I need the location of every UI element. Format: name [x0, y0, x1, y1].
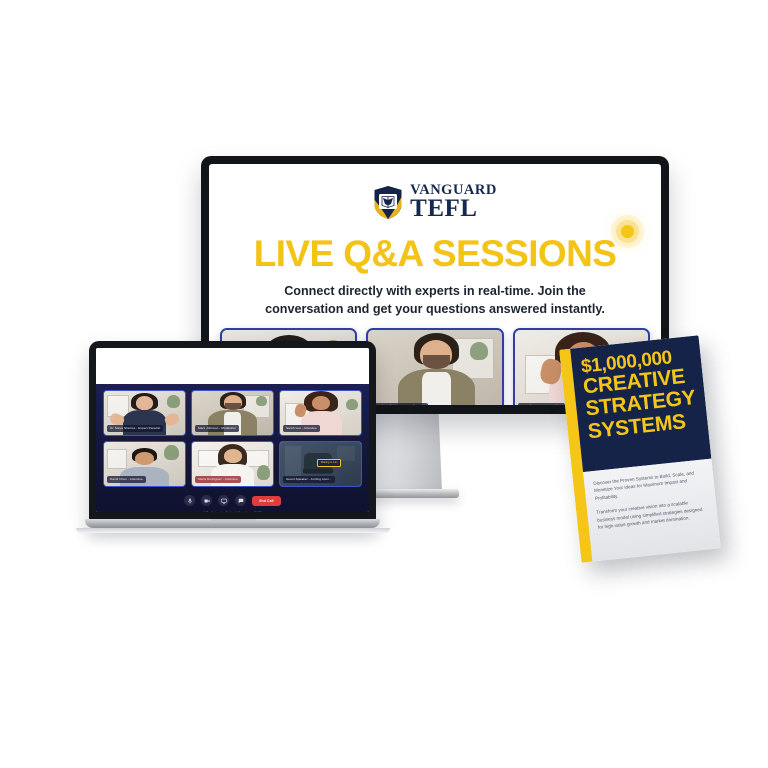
book-paragraph: Discover the Proven Systems to Build, Sc… — [593, 468, 706, 502]
video-call-app: Dr. Maya Sharma - Expert Panelist — [96, 384, 369, 512]
laptop-video-grid: Dr. Maya Sharma - Expert Panelist — [103, 390, 362, 487]
book-cover-bottom: Discover the Proven Systems to Build, Sc… — [583, 459, 721, 562]
participant-name-label: David Chen - Attendee — [107, 476, 146, 483]
book-paragraph: Transform your creative vision into a sc… — [596, 498, 709, 532]
book-cover: $1,000,000 CREATIVE STRATEGY SYSTEMS Dis… — [559, 335, 721, 562]
product-mockup-stage: VANGUARD TEFL LIVE Q&A SESSIONS Connect … — [0, 0, 768, 768]
video-tile[interactable]: Maria Rodriguez - Attendee — [191, 441, 274, 487]
book-cover-top: $1,000,000 CREATIVE STRATEGY SYSTEMS — [570, 335, 711, 472]
laptop-screen: Dr. Maya Sharma - Expert Panelist — [96, 348, 369, 512]
participant-name-label: Dr. Maya Sharma - Expert Panelist — [107, 425, 163, 432]
laptop-screen-top-blank — [96, 348, 369, 384]
chat-icon[interactable] — [235, 495, 246, 506]
participant-name-label: Sarah Lee - Attendee — [518, 403, 565, 405]
slide-subheadline: Connect directly with experts in real-ti… — [259, 283, 611, 318]
video-tile[interactable]: Mark Johnson - Moderator — [191, 390, 274, 436]
slide-headline: LIVE Q&A SESSIONS — [254, 235, 617, 272]
participant-name-label: Sarah Lee - Attendee — [283, 425, 320, 432]
brand-wordmark: VANGUARD TEFL — [410, 184, 497, 220]
headline-wrap: LIVE Q&A SESSIONS — [254, 235, 617, 272]
spark-dot-icon — [621, 225, 634, 238]
video-tile-screenshare[interactable]: Waiting to Join Guest Speaker - Joining … — [279, 441, 362, 487]
video-tile[interactable]: David Chen - Attendee — [103, 441, 186, 487]
call-toolbar: End Call — [103, 495, 362, 506]
participant-name-label: Maria Rodriguez - Attendee — [195, 476, 241, 483]
shield-book-icon — [373, 185, 403, 220]
end-call-button[interactable]: End Call — [252, 496, 280, 506]
participant-name-label: Guest Speaker - Joining soon... — [283, 476, 335, 483]
call-status-text: 6 Participants Online | Duration: 45:32 — [103, 511, 362, 512]
brand-name-bottom: TEFL — [410, 197, 497, 220]
participant-name-label: Mark Johnson - Moderator — [195, 425, 239, 432]
laptop-device: Dr. Maya Sharma - Expert Panelist — [85, 341, 380, 541]
video-tile[interactable]: Mark Johnson - Moderator — [366, 328, 503, 405]
screen-share-icon[interactable] — [218, 495, 229, 506]
laptop-notch — [210, 519, 256, 522]
video-tile[interactable]: Dr. Maya Sharma - Expert Panelist — [103, 390, 186, 436]
laptop-foot-shadow — [76, 528, 390, 533]
brand-lockup: VANGUARD TEFL — [373, 184, 497, 220]
participant-photo — [368, 330, 501, 405]
video-tile[interactable]: Sarah Lee - Attendee — [279, 390, 362, 436]
microphone-icon[interactable] — [184, 495, 195, 506]
laptop-lid: Dr. Maya Sharma - Expert Panelist — [89, 341, 376, 522]
waiting-badge: Waiting to Join — [317, 459, 341, 467]
camera-icon[interactable] — [201, 495, 212, 506]
